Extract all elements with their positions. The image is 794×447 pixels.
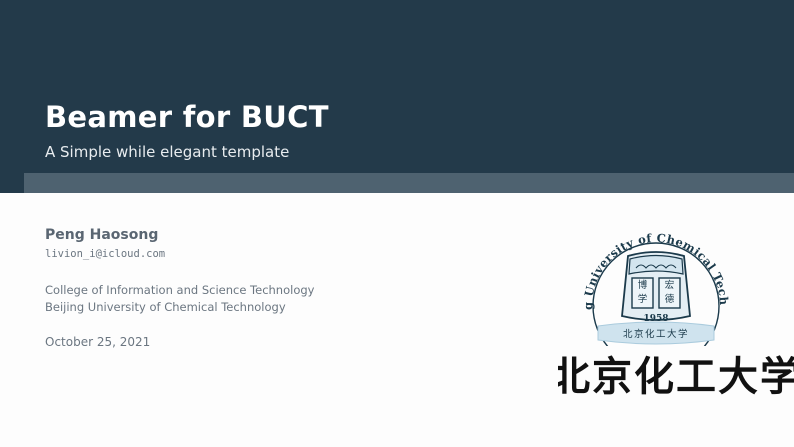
motto-char-boxue-1: 博 xyxy=(638,279,648,291)
presentation-title: Beamer for BUCT xyxy=(45,100,329,134)
title-banner xyxy=(0,0,794,193)
university-seal-icon: Beijing University of Chemical Technolog… xyxy=(570,222,742,346)
presentation-date: October 25, 2021 xyxy=(45,335,314,349)
motto-char-boxue-2: 学 xyxy=(638,293,648,305)
accent-band xyxy=(24,173,794,193)
presentation-subtitle: A Simple while elegant template xyxy=(45,143,289,161)
cloud-motif-icon xyxy=(629,256,683,275)
author-name: Peng Haosong xyxy=(45,226,314,244)
author-email: livion_i@icloud.com xyxy=(45,248,314,262)
affiliation-block: College of Information and Science Techn… xyxy=(45,282,314,315)
university-wordmark: 北京化工大学 xyxy=(558,350,794,402)
ribbon-text: 北京化工大学 xyxy=(623,328,689,340)
author-info-block: Peng Haosong livion_i@icloud.com College… xyxy=(45,226,314,349)
university-logo: Beijing University of Chemical Technolog… xyxy=(540,222,790,412)
wordmark-text: 北京化工大学 xyxy=(558,354,794,400)
affiliation-line-1: College of Information and Science Techn… xyxy=(45,282,314,299)
motto-char-hongde-1: 宏 xyxy=(665,279,675,291)
motto-char-hongde-2: 德 xyxy=(665,293,675,305)
affiliation-line-2: Beijing University of Chemical Technolog… xyxy=(45,299,314,316)
